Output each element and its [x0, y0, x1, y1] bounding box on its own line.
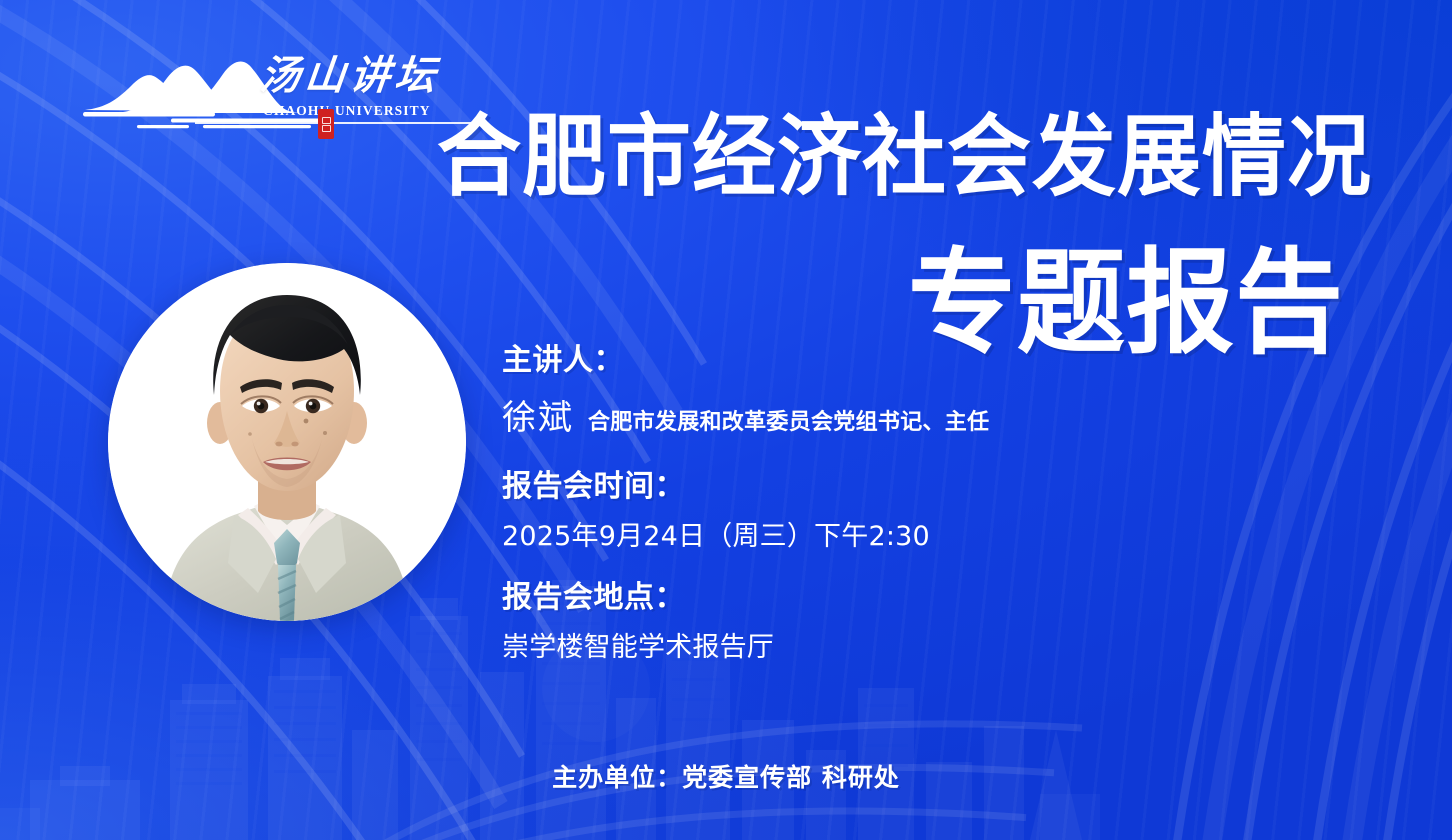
- poster-canvas: 汤山讲坛 CHAOHU UNIVERSITY 合肥市经济社会发展情况 专题报告: [0, 0, 1452, 840]
- speaker-title: 合肥市发展和改革委员会党组书记、主任: [588, 412, 989, 434]
- speaker-portrait: [108, 263, 466, 621]
- speaker-label: 主讲人：: [502, 346, 1262, 376]
- time-value: 2025年9月24日（周三）下午2:30: [502, 523, 1262, 550]
- speaker-name: 徐斌: [502, 401, 574, 435]
- headline-line-1: 合肥市经济社会发展情况: [437, 112, 1372, 201]
- time-label: 报告会时间：: [502, 472, 1262, 502]
- headline-line-2: 专题报告: [908, 247, 1344, 361]
- red-seal-icon: [318, 109, 334, 139]
- logo-english-name: CHAOHU UNIVERSITY: [263, 104, 431, 118]
- event-info-block: 主讲人： 徐斌 合肥市发展和改革委员会党组书记、主任 报告会时间： 2025年9…: [502, 346, 1262, 661]
- logo-chinese-name: 汤山讲坛: [258, 56, 442, 96]
- place-label: 报告会地点：: [502, 583, 1262, 613]
- organizer-footer: 主办单位：党委宣传部 科研处: [0, 758, 1452, 794]
- logo-divider: [195, 122, 475, 124]
- brand-logo[interactable]: 汤山讲坛 CHAOHU UNIVERSITY: [75, 52, 420, 144]
- place-value: 崇学楼智能学术报告厅: [502, 634, 1262, 661]
- speaker-row: 徐斌 合肥市发展和改革委员会党组书记、主任: [502, 401, 1262, 435]
